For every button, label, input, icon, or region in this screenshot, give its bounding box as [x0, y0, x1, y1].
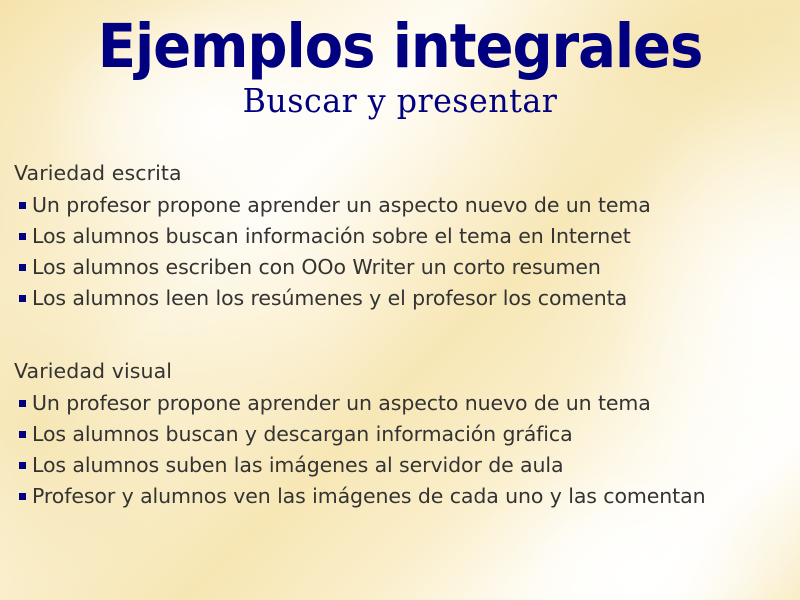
- square-bullet-icon: [19, 431, 26, 438]
- presentation-slide: Ejemplos integrales Buscar y presentar V…: [0, 0, 800, 600]
- bullet-text: Los alumnos buscan y descargan informaci…: [32, 419, 573, 450]
- bullet-text: Los alumnos buscan información sobre el …: [32, 221, 631, 252]
- square-bullet-icon: [19, 400, 26, 407]
- section-variedad-escrita: Variedad escrita Un profesor propone apr…: [14, 158, 800, 314]
- section-variedad-visual: Variedad visual Un profesor propone apre…: [14, 356, 800, 512]
- square-bullet-icon: [19, 233, 26, 240]
- slide-body-outline: Variedad escrita Un profesor propone apr…: [14, 158, 800, 512]
- slide-title: Ejemplos integrales: [32, 14, 768, 80]
- bullet-item: Los alumnos buscan y descargan informaci…: [14, 419, 800, 450]
- bullet-item: Profesor y alumnos ven las imágenes de c…: [14, 481, 800, 512]
- bullet-item: Los alumnos buscan información sobre el …: [14, 221, 800, 252]
- bullet-text: Un profesor propone aprender un aspecto …: [32, 190, 651, 221]
- bullet-item: Los alumnos escriben con OOo Writer un c…: [14, 252, 800, 283]
- slide-subtitle: Buscar y presentar: [16, 82, 784, 120]
- square-bullet-icon: [19, 202, 26, 209]
- square-bullet-icon: [19, 295, 26, 302]
- bullet-text: Un profesor propone aprender un aspecto …: [32, 388, 651, 419]
- square-bullet-icon: [19, 493, 26, 500]
- square-bullet-icon: [19, 462, 26, 469]
- bullet-item: Los alumnos leen los resúmenes y el prof…: [14, 283, 800, 314]
- bullet-text: Los alumnos suben las imágenes al servid…: [32, 450, 563, 481]
- bullet-list: Un profesor propone aprender un aspecto …: [14, 388, 800, 512]
- slide-content: Ejemplos integrales Buscar y presentar V…: [0, 0, 800, 600]
- slide-title-block: Ejemplos integrales Buscar y presentar: [0, 14, 800, 120]
- bullet-item: Un profesor propone aprender un aspecto …: [14, 388, 800, 419]
- bullet-item: Un profesor propone aprender un aspecto …: [14, 190, 800, 221]
- bullet-list: Un profesor propone aprender un aspecto …: [14, 190, 800, 314]
- bullet-text: Los alumnos leen los resúmenes y el prof…: [32, 283, 627, 314]
- bullet-text: Los alumnos escriben con OOo Writer un c…: [32, 252, 601, 283]
- bullet-text: Profesor y alumnos ven las imágenes de c…: [32, 481, 705, 512]
- bullet-item: Los alumnos suben las imágenes al servid…: [14, 450, 800, 481]
- square-bullet-icon: [19, 264, 26, 271]
- section-heading: Variedad escrita: [14, 158, 800, 189]
- section-heading: Variedad visual: [14, 356, 800, 387]
